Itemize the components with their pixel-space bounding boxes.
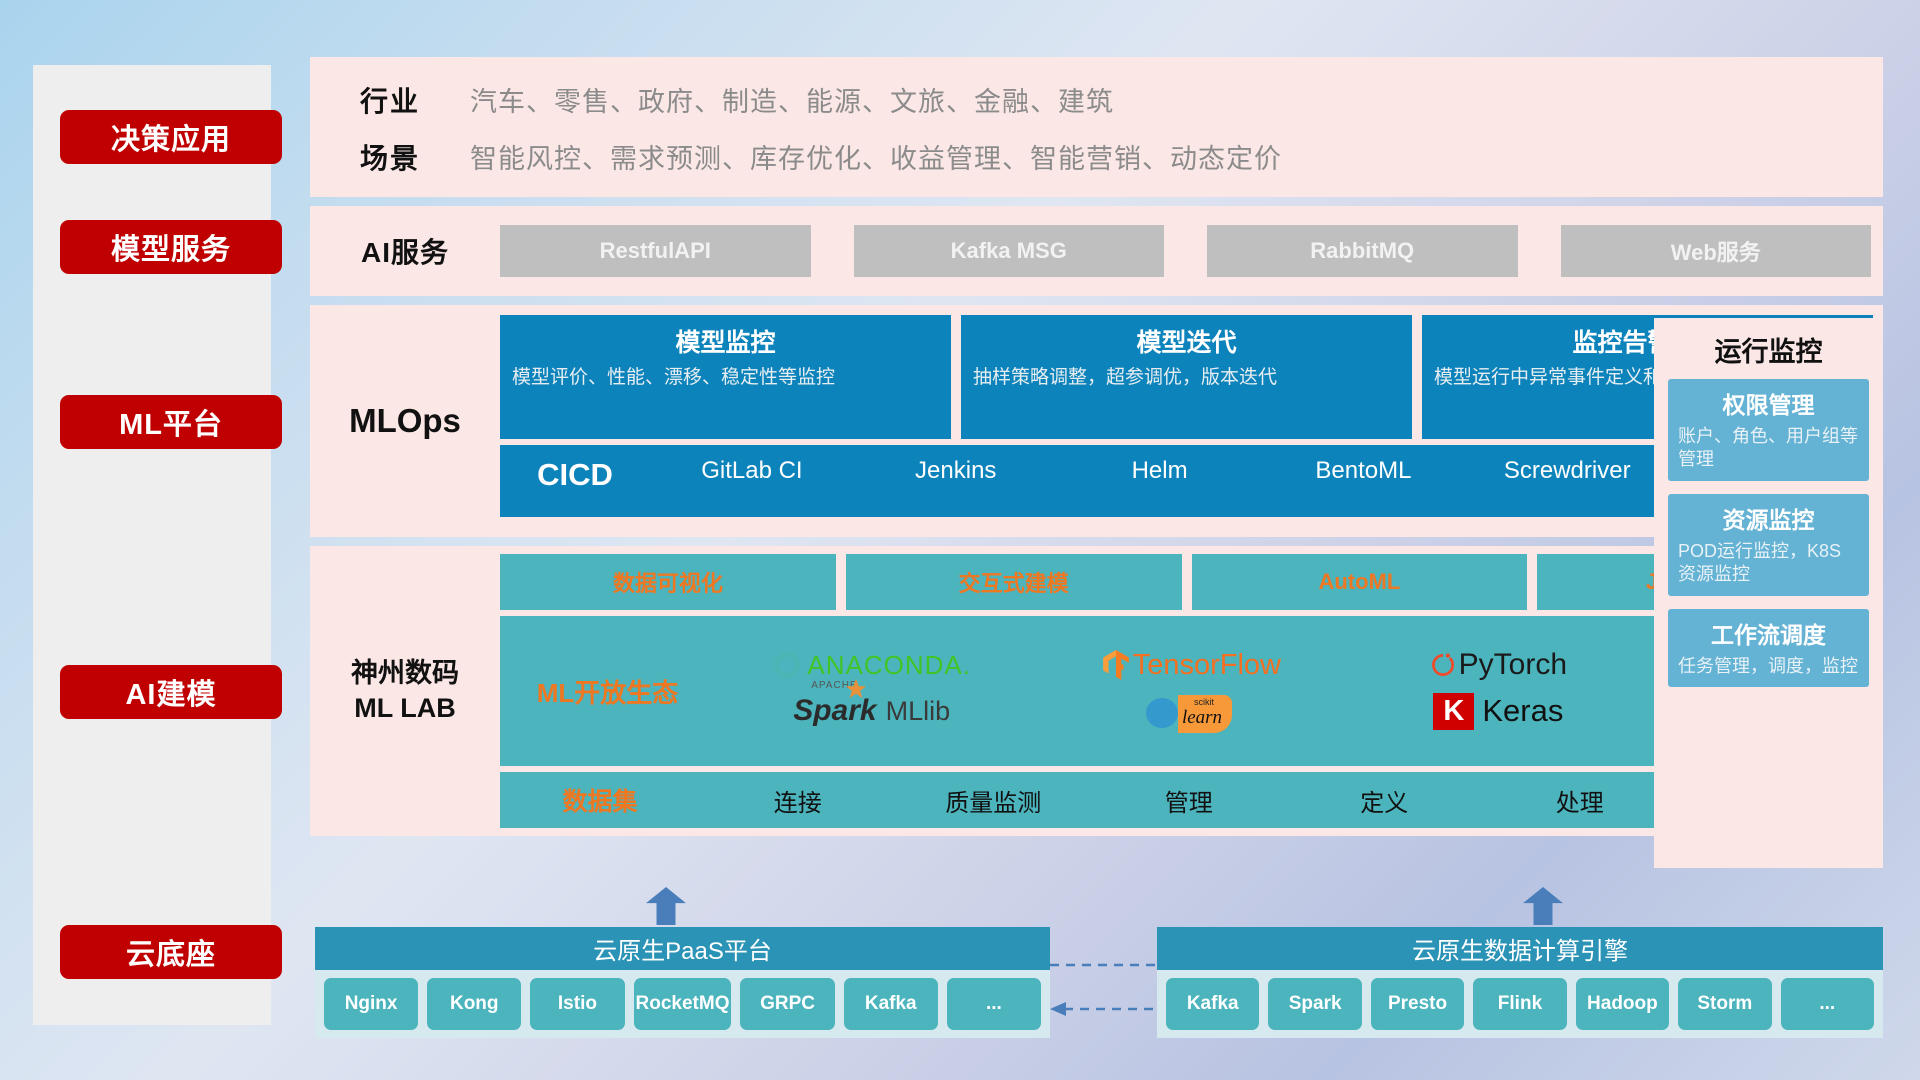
rail-chip-label: ML平台	[119, 401, 223, 443]
service-box-kafka-msg[interactable]: Kafka MSG	[854, 225, 1165, 277]
mlops-card-model-iteration[interactable]: 模型迭代 抽样策略调整，超参调优，版本迭代	[961, 315, 1412, 439]
cloud-chip-flink[interactable]: Flink	[1473, 978, 1566, 1030]
lab-tab-label: AutoML	[1318, 569, 1400, 595]
lab-tab-interactive-modeling[interactable]: 交互式建模	[846, 554, 1182, 610]
industry-label: 行业	[310, 80, 470, 120]
rail-chip-ai-modeling[interactable]: AI建模	[60, 665, 282, 719]
up-arrow-compute-engine-icon	[1520, 887, 1566, 925]
monitor-card-permission-management[interactable]: 权限管理 账户、角色、用户组等管理	[1668, 379, 1869, 481]
cloud-chip-spark[interactable]: Spark	[1268, 978, 1361, 1030]
lab-tab-data-visualization[interactable]: 数据可视化	[500, 554, 836, 610]
card-desc: 账户、角色、用户组等管理	[1678, 425, 1859, 472]
ml-lab-band: 神州数码 ML LAB 数据可视化 交互式建模 AutoML JupyterLa…	[310, 546, 1883, 836]
keras-mark-icon: K	[1433, 693, 1474, 730]
rail-chip-label: AI建模	[125, 671, 216, 713]
card-title: 权限管理	[1678, 386, 1859, 420]
card-title: 资源监控	[1678, 501, 1859, 535]
keras-wordmark: Keras	[1482, 693, 1563, 729]
cicd-item-jenkins[interactable]: Jenkins	[854, 457, 1058, 485]
cloud-chip-grpc[interactable]: GRPC	[740, 978, 834, 1030]
cloud-chips: Kafka Spark Presto Flink Hadoop Storm ..…	[1157, 970, 1883, 1038]
tensorflow-wordmark: TensorFlow	[1133, 649, 1281, 682]
industry-values: 汽车、零售、政府、制造、能源、文旅、金融、建筑	[470, 80, 1114, 119]
spark-star-icon	[845, 678, 867, 700]
card-desc: POD运行监控，K8S资源监控	[1678, 540, 1859, 587]
ai-service-label: AI服务	[310, 231, 500, 271]
scenario-row: 场景 智能风控、需求预测、库存优化、收益管理、智能营销、动态定价	[310, 128, 1883, 185]
cicd-item-screwdriver[interactable]: Screwdriver	[1465, 457, 1669, 485]
up-arrow-paas-icon	[643, 887, 689, 925]
dataset-item-quality-monitoring[interactable]: 质量监测	[896, 783, 1092, 818]
rail-chip-label: 模型服务	[111, 226, 231, 268]
decision-apps-band: 行业 汽车、零售、政府、制造、能源、文旅、金融、建筑 场景 智能风控、需求预测、…	[310, 57, 1883, 197]
cloud-group-title: 云原生PaaS平台	[315, 927, 1050, 970]
pytorch-wordmark: PyTorch	[1459, 648, 1567, 682]
dataset-item-management[interactable]: 管理	[1091, 783, 1287, 818]
keras-logo: K Keras	[1355, 693, 1641, 730]
lab-tab-label: 交互式建模	[959, 566, 1069, 598]
main-column: 行业 汽车、零售、政府、制造、能源、文旅、金融、建筑 场景 智能风控、需求预测、…	[310, 57, 1883, 845]
service-box-web-service[interactable]: Web服务	[1561, 225, 1872, 277]
cicd-item-bentoml[interactable]: BentoML	[1261, 457, 1465, 485]
card-title: 工作流调度	[1678, 616, 1859, 650]
svg-text:learn: learn	[1182, 707, 1222, 728]
card-title: 模型监控	[512, 323, 939, 359]
card-title: 模型迭代	[973, 323, 1400, 359]
ml-lab-label-line1: 神州数码	[351, 656, 459, 691]
svg-text:scikit: scikit	[1194, 697, 1214, 707]
cloud-chip-nginx[interactable]: Nginx	[324, 978, 418, 1030]
cloud-chip-istio[interactable]: Istio	[530, 978, 624, 1030]
rail-chip-model-service[interactable]: 模型服务	[60, 220, 282, 274]
card-desc: 抽样策略调整，超参调优，版本迭代	[973, 366, 1400, 390]
cicd-item-helm[interactable]: Helm	[1058, 457, 1262, 485]
card-desc: 任务管理，调度，监控	[1678, 655, 1859, 678]
cicd-label: CICD	[500, 457, 650, 493]
scenario-values: 智能风控、需求预测、库存优化、收益管理、智能营销、动态定价	[470, 137, 1282, 176]
industry-row: 行业 汽车、零售、政府、制造、能源、文旅、金融、建筑	[310, 71, 1883, 128]
cloud-chips: Nginx Kong Istio RocketMQ GRPC Kafka ...	[315, 970, 1050, 1038]
cloud-chip-kafka[interactable]: Kafka	[844, 978, 938, 1030]
pytorch-mark-icon	[1430, 650, 1456, 680]
ml-lab-label-line2: ML LAB	[354, 691, 456, 726]
dataset-item-processing[interactable]: 处理	[1482, 783, 1678, 818]
anaconda-logo: ANACONDA.	[715, 650, 1028, 681]
service-box-label: Web服务	[1671, 235, 1761, 267]
spark-mllib-logo: APACHE Spark MLlib	[715, 694, 1028, 728]
cloud-chip-presto[interactable]: Presto	[1371, 978, 1464, 1030]
cicd-item-gitlab-ci[interactable]: GitLab CI	[650, 457, 854, 485]
cloud-base-layer: 云原生PaaS平台 Nginx Kong Istio RocketMQ GRPC…	[0, 875, 1920, 1080]
anaconda-mark-icon	[772, 650, 802, 680]
lab-tab-label: 数据可视化	[613, 566, 723, 598]
dataset-label: 数据集	[500, 782, 700, 818]
cloud-chip-kafka[interactable]: Kafka	[1166, 978, 1259, 1030]
cloud-chip-more[interactable]: ...	[947, 978, 1041, 1030]
rail-chip-decision-apps[interactable]: 决策应用	[60, 110, 282, 164]
dataset-item-connect[interactable]: 连接	[700, 783, 896, 818]
dataset-item-definition[interactable]: 定义	[1287, 783, 1483, 818]
eco-label: ML开放生态	[500, 673, 715, 710]
card-desc: 模型评价、性能、漂移、稳定性等监控	[512, 366, 939, 390]
cloud-group-paas: 云原生PaaS平台 Nginx Kong Istio RocketMQ GRPC…	[315, 927, 1050, 1038]
pytorch-logo: PyTorch	[1355, 648, 1641, 682]
lab-tab-automl[interactable]: AutoML	[1192, 554, 1528, 610]
mllib-wordmark: MLlib	[886, 696, 951, 727]
cloud-chip-storm[interactable]: Storm	[1678, 978, 1771, 1030]
anaconda-wordmark: ANACONDA.	[807, 650, 971, 681]
monitor-card-resource-monitoring[interactable]: 资源监控 POD运行监控，K8S资源监控	[1668, 494, 1869, 596]
monitor-card-workflow-scheduling[interactable]: 工作流调度 任务管理，调度，监控	[1668, 609, 1869, 687]
scenario-label: 场景	[310, 137, 470, 177]
cloud-chip-kong[interactable]: Kong	[427, 978, 521, 1030]
tensorflow-mark-icon	[1103, 650, 1129, 680]
cloud-group-data-compute-engine: 云原生数据计算引擎 Kafka Spark Presto Flink Hadoo…	[1157, 927, 1883, 1038]
cloud-chip-more[interactable]: ...	[1781, 978, 1874, 1030]
service-box-rabbitmq[interactable]: RabbitMQ	[1207, 225, 1518, 277]
rail-chip-ml-platform[interactable]: ML平台	[60, 395, 282, 449]
service-box-label: Kafka MSG	[951, 238, 1067, 264]
cloud-chip-rocketmq[interactable]: RocketMQ	[634, 978, 732, 1030]
mlops-band: MLOps 模型监控 模型评价、性能、漂移、稳定性等监控 模型迭代 抽样策略调整…	[310, 305, 1883, 537]
service-box-label: RabbitMQ	[1310, 238, 1414, 264]
mlops-card-model-monitoring[interactable]: 模型监控 模型评价、性能、漂移、稳定性等监控	[500, 315, 951, 439]
scikit-learn-logo: scikit learn	[1028, 687, 1355, 735]
service-box-label: RestfulAPI	[600, 238, 711, 264]
runtime-monitor-panel: 运行监控 权限管理 账户、角色、用户组等管理 资源监控 POD运行监控，K8S资…	[1654, 318, 1883, 868]
ai-service-band: AI服务 RestfulAPI Kafka MSG RabbitMQ Web服务	[310, 206, 1883, 296]
service-box-restfulapi[interactable]: RestfulAPI	[500, 225, 811, 277]
cloud-chip-hadoop[interactable]: Hadoop	[1576, 978, 1669, 1030]
scikit-learn-mark-icon: scikit learn	[1140, 687, 1244, 735]
ai-service-items: RestfulAPI Kafka MSG RabbitMQ Web服务	[500, 225, 1883, 277]
runtime-monitor-title: 运行监控	[1654, 318, 1883, 379]
ml-lab-label: 神州数码 ML LAB	[310, 546, 500, 836]
tensorflow-logo: TensorFlow	[1028, 649, 1355, 682]
cloud-group-title: 云原生数据计算引擎	[1157, 927, 1883, 970]
mlops-label: MLOps	[310, 305, 500, 537]
rail-chip-label: 决策应用	[111, 116, 231, 158]
